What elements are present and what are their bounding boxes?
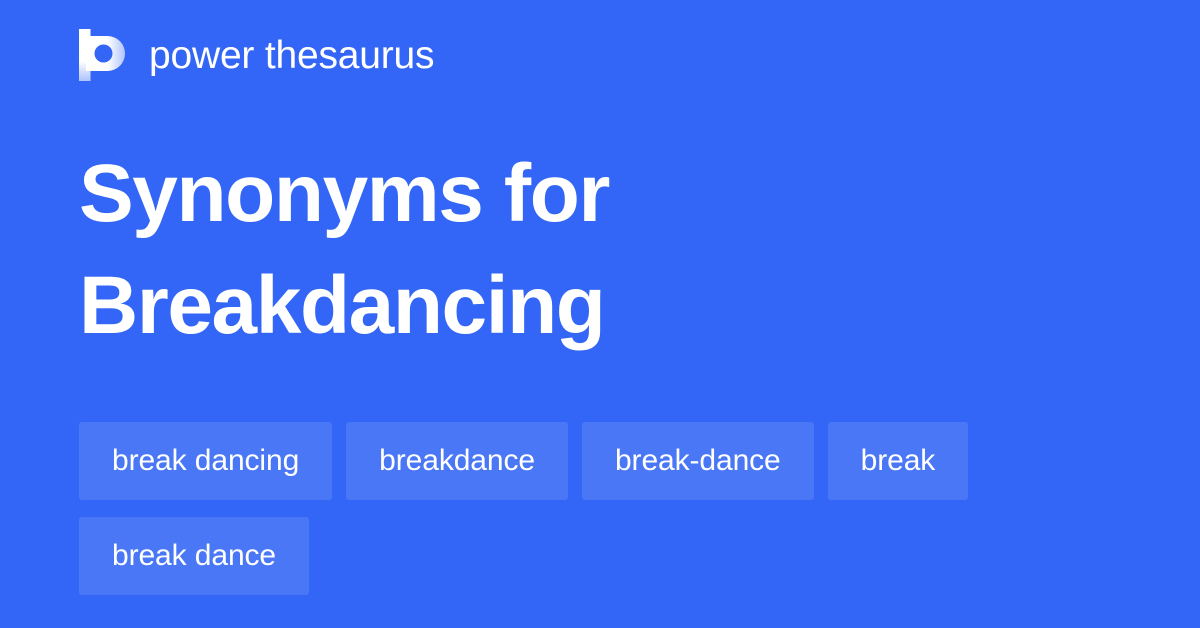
synonym-chip[interactable]: break dancing <box>79 422 332 500</box>
power-thesaurus-b-logo-icon <box>79 29 127 81</box>
synonym-chip[interactable]: breakdance <box>346 422 568 500</box>
synonym-chip-list: break dancing breakdance break-dance bre… <box>79 422 1129 595</box>
page-title: Synonyms for Breakdancing <box>79 138 1119 362</box>
brand-logo[interactable]: power thesaurus <box>79 27 434 83</box>
page-title-line-2: Breakdancing <box>79 250 1119 362</box>
brand-name: power thesaurus <box>149 36 434 75</box>
synonym-chip[interactable]: break <box>828 422 969 500</box>
synonyms-share-card: power thesaurus Synonyms for Breakdancin… <box>0 0 1200 628</box>
synonym-chip[interactable]: break dance <box>79 517 309 595</box>
synonym-chip[interactable]: break-dance <box>582 422 814 500</box>
page-title-line-1: Synonyms for <box>79 138 1119 250</box>
